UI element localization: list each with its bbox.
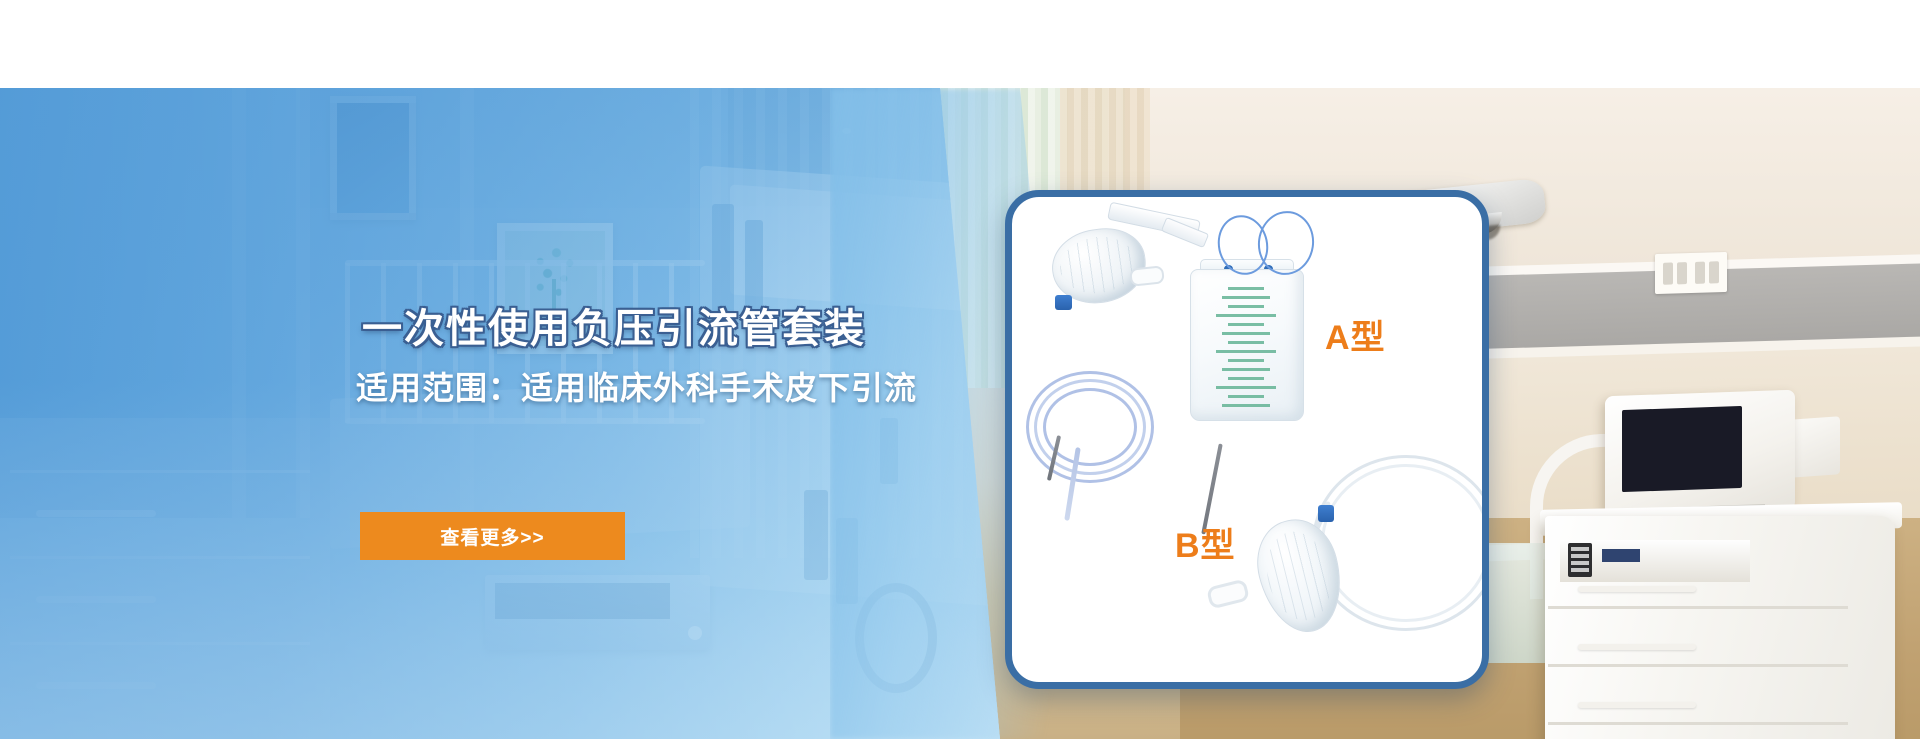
drainage-bag-graduations xyxy=(1208,287,1284,409)
drainage-tubing-coil-b-icon xyxy=(1312,455,1489,631)
product-image-card xyxy=(1005,190,1489,689)
top-white-strip xyxy=(0,0,1920,88)
drainage-tubing-coil-a-icon xyxy=(1026,371,1154,483)
cart-drawer-seam xyxy=(1548,722,1848,725)
roller-clamp-b-icon xyxy=(1206,578,1250,609)
cart-keypad-icon xyxy=(1568,543,1592,577)
model-label-a: A型 xyxy=(1325,310,1386,359)
gas-outlet-panel xyxy=(1655,252,1727,294)
banner-copy: 一次性使用负压引流管套装 适用范围：适用临床外科手术皮下引流 查看更多>> xyxy=(0,88,1000,739)
banner-subtitle: 适用范围：适用临床外科手术皮下引流 xyxy=(356,363,917,409)
product-illustrations xyxy=(1012,197,1482,682)
monitor-rear-housing xyxy=(1790,416,1840,477)
model-label-b: B型 xyxy=(1175,518,1236,567)
view-more-button[interactable]: 查看更多>> xyxy=(360,512,625,560)
roller-clamp-a-icon xyxy=(1129,265,1165,286)
cart-drawer-handle xyxy=(1578,644,1696,650)
patient-monitor-screen xyxy=(1622,406,1742,492)
page-title: 一次性使用负压引流管套装 xyxy=(362,296,866,354)
cart-drawer-handle xyxy=(1578,586,1696,592)
product-banner: 一次性使用负压引流管套装 适用范围：适用临床外科手术皮下引流 查看更多>> xyxy=(0,0,1920,739)
cart-drawer-handle xyxy=(1578,702,1696,708)
blue-connector-a-icon xyxy=(1055,295,1072,310)
blue-connector-b-icon xyxy=(1318,505,1334,522)
cart-label-plate xyxy=(1602,549,1640,562)
cart-drawer-seam xyxy=(1548,606,1848,609)
cart-drawer-seam xyxy=(1548,664,1848,667)
